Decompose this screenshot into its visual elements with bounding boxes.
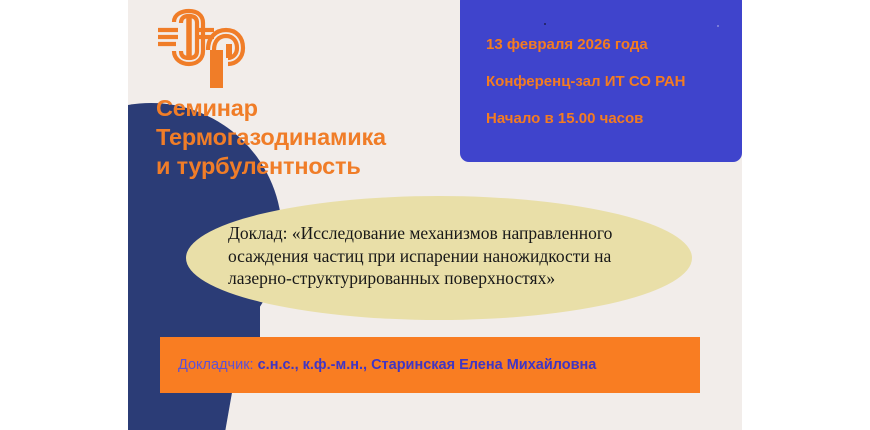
talk-title-line-2: осаждения частиц при испарении наножидко… [228, 245, 678, 268]
speaker-text: Докладчик: с.н.с., к.ф.-м.н., Старинская… [160, 357, 596, 373]
event-info-box: 13 февраля 2026 года Конференц-зал ИТ СО… [460, 0, 742, 162]
talk-title-line-1: Доклад: «Исследование механизмов направл… [228, 222, 678, 245]
speaker-banner: Докладчик: с.н.с., к.ф.-м.н., Старинская… [160, 337, 700, 393]
event-start-time: Начало в 15.00 часов [486, 110, 742, 128]
seminar-title-line-3: и турбулентность [156, 152, 456, 181]
speaker-name: с.н.с., к.ф.-м.н., Старинская Елена Миха… [258, 357, 597, 373]
speaker-label: Докладчик: [178, 357, 254, 373]
event-date: 13 февраля 2026 года [486, 36, 742, 54]
seminar-title: Семинар Термогазодинамика и турбулентнос… [156, 94, 456, 181]
slide-canvas: Семинар Термогазодинамика и турбулентнос… [128, 0, 742, 430]
info-box-dot-artifact [544, 23, 546, 25]
seminar-title-line-1: Семинар [156, 94, 456, 123]
talk-title-line-3: лазерно-структурированных поверхностях» [228, 267, 678, 290]
seminar-title-line-2: Термогазодинамика [156, 123, 456, 152]
event-venue: Конференц-зал ИТ СО РАН [486, 73, 742, 91]
slide-root: Семинар Термогазодинамика и турбулентнос… [0, 0, 870, 430]
info-box-dot-artifact-secondary [717, 25, 719, 27]
talk-title-text: Доклад: «Исследование механизмов направл… [228, 222, 678, 290]
institute-monogram-logo-icon [150, 6, 248, 92]
